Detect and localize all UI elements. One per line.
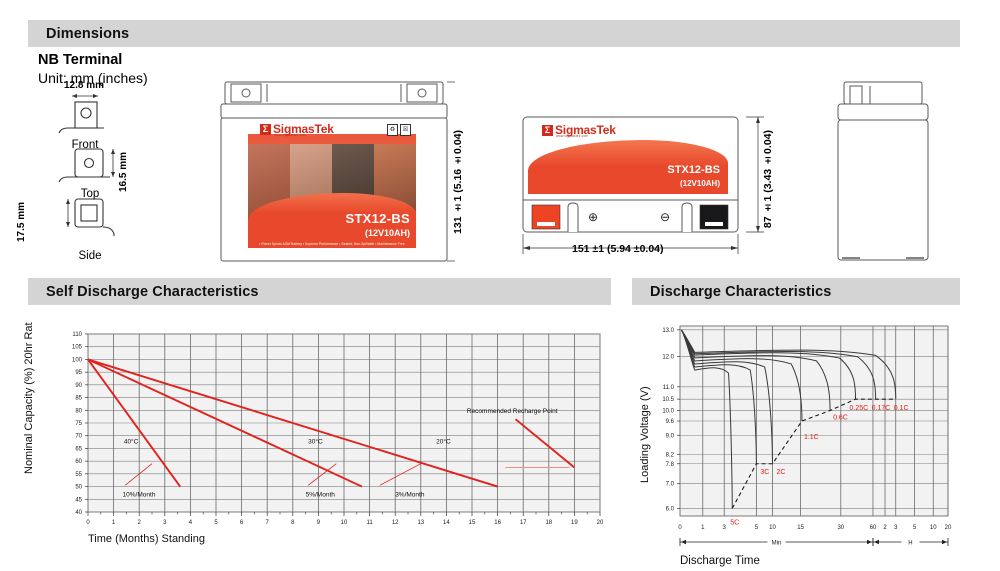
- battery-width-dimension: 87 ±1 (3.43 ±0.04): [762, 130, 774, 228]
- sdc-ytick: 45: [75, 497, 82, 503]
- dc-xtick: 5: [755, 525, 759, 531]
- dc-ytick: 9.6: [666, 419, 675, 425]
- dc-ytick: 11.0: [663, 385, 675, 391]
- sdc-xtick: 0: [86, 520, 90, 526]
- sdc-xtick: 15: [469, 520, 476, 526]
- dc-xtick: 20: [945, 525, 952, 531]
- sdc-ylabel: Nominal Capacity (%) 20hr Rate: [23, 322, 35, 474]
- label-voltage: (12V10AH): [365, 228, 410, 238]
- dc-ytick: 10.0: [662, 409, 674, 415]
- sdc-xtick: 12: [392, 520, 399, 526]
- sdc-xtick: 20: [597, 520, 604, 526]
- sdc-xtick: 10: [341, 520, 348, 526]
- terminal-width-dim: 12.8 mm: [64, 80, 104, 91]
- dc-curve-label-0.6C: 0.6C: [833, 415, 848, 422]
- sdc-ytick: 75: [75, 421, 82, 427]
- dc-axis-group-Min: Min: [772, 541, 782, 547]
- section-title-dimensions: Dimensions: [28, 26, 129, 42]
- sdc-xtick: 8: [291, 520, 295, 526]
- recycle-icon: ♻: [387, 124, 398, 136]
- battery-length-dimension: 151 ±1 (5.94 ±0.04): [572, 243, 664, 255]
- sdc-ytick: 100: [72, 357, 83, 363]
- discharge-chart: 6.07.07.88.29.09.610.010.511.012.013.0 0…: [632, 318, 972, 568]
- dc-curve-label-0.17C: 0.17C: [872, 405, 891, 412]
- brand-website-top: www.sigmastek.com: [556, 134, 588, 138]
- dc-xtick: 15: [797, 525, 804, 531]
- terminal-top-view: [59, 149, 115, 182]
- sdc-ytick: 40: [75, 510, 82, 516]
- dc-ytick: 6.0: [666, 506, 675, 512]
- sdc-xtick: 7: [266, 520, 270, 526]
- sdc-xtick: 9: [317, 520, 321, 526]
- dc-axis-group-H: H: [908, 541, 912, 547]
- section-title-discharge: Discharge Characteristics: [632, 284, 831, 300]
- dc-ytick: 10.5: [662, 397, 674, 403]
- sdc-ytick: 95: [75, 370, 82, 376]
- sdc-annotation: 20°C: [436, 437, 451, 445]
- terminal-depth-dim: 16.5 mm: [118, 152, 129, 192]
- sdc-annotation: 3%/Month: [395, 492, 425, 499]
- sdc-xtick: 6: [240, 520, 244, 526]
- dc-curve-label-5C: 5C: [730, 519, 739, 526]
- terminal-side-view: [66, 199, 114, 236]
- section-header-self-discharge: Self Discharge Characteristics: [28, 278, 611, 305]
- sdc-ytick: 90: [75, 383, 82, 389]
- no-trash-icon: ☒: [400, 124, 411, 136]
- dc-ytick: 7.8: [666, 462, 675, 468]
- terminal-front-caption: Front: [55, 139, 115, 151]
- terminal-front-view: [59, 94, 104, 133]
- sdc-xtick: 13: [417, 520, 424, 526]
- sdc-annotation: 5%/Month: [306, 492, 336, 499]
- brand-website: www.sigmastek.com: [274, 133, 306, 137]
- dc-xtick: 2: [883, 525, 887, 531]
- sdc-annotation: Recommended Recharge Point: [467, 408, 558, 415]
- dc-xtick: 10: [930, 525, 937, 531]
- dc-xtick: 60: [870, 525, 877, 531]
- dc-xtick: 3: [894, 525, 898, 531]
- top-label-voltage: (12V10AH): [680, 179, 720, 188]
- sdc-xlabel: Time (Months) Standing: [88, 533, 205, 545]
- sdc-annotation: 40°C: [124, 437, 139, 445]
- sdc-annotation: 30°C: [308, 437, 323, 445]
- sdc-xtick: 19: [571, 520, 578, 526]
- dc-ytick: 8.2: [666, 452, 675, 458]
- sdc-xtick: 17: [520, 520, 527, 526]
- dc-curve-label-1.1C: 1.1C: [804, 434, 819, 441]
- battery-height-dimension: 131 ±1 (5.16 ±0.04): [452, 130, 464, 234]
- sdc-ytick: 105: [72, 345, 83, 351]
- top-label-model: STX12-BS: [667, 164, 720, 176]
- dc-xtick: 0: [678, 525, 682, 531]
- sdc-annotation: 10%/Month: [123, 492, 156, 499]
- sdc-xtick: 2: [138, 520, 142, 526]
- dc-ytick: 7.0: [666, 482, 675, 488]
- label-icons: ♻ ☒: [387, 124, 411, 136]
- dc-xtick: 10: [769, 525, 776, 531]
- negative-symbol: ⊖: [660, 210, 670, 224]
- positive-symbol: ⊕: [588, 210, 598, 224]
- dc-curve-label-0.25C: 0.25C: [850, 405, 869, 412]
- battery-label-top: Σ SigmasTek www.sigmastek.com STX12-BS (…: [528, 122, 728, 194]
- label-model: STX12-BS: [345, 211, 410, 226]
- sdc-xtick: 16: [494, 520, 501, 526]
- dc-xtick: 30: [837, 525, 844, 531]
- dc-curve-label-0.1C: 0.1C: [894, 405, 909, 412]
- sdc-xtick: 18: [545, 520, 552, 526]
- terminal-drawings: [34, 86, 184, 271]
- sdc-xtick: 14: [443, 520, 450, 526]
- nb-terminal-title: NB Terminal: [38, 52, 122, 68]
- sdc-ytick: 55: [75, 472, 82, 478]
- sdc-xtick: 11: [366, 520, 373, 526]
- dc-curve-label-3C: 3C: [760, 469, 769, 476]
- section-header-discharge: Discharge Characteristics: [632, 278, 960, 305]
- dc-ylabel: Loading Voltage (V): [639, 386, 651, 483]
- sdc-ytick: 80: [75, 408, 82, 414]
- sdc-ytick: 60: [75, 459, 82, 465]
- dc-curve-label-2C: 2C: [776, 469, 785, 476]
- battery-side-drawing: [820, 68, 950, 268]
- dc-ytick: 9.0: [666, 433, 675, 439]
- battery-label-front: Σ SigmasTek www.sigmastek.com ♻ ☒ STX12-…: [248, 120, 416, 248]
- sdc-xtick: 5: [214, 520, 218, 526]
- sigma-icon: Σ: [542, 125, 553, 136]
- sdc-ytick: 110: [72, 332, 82, 338]
- dc-xlabel: Discharge Time: [680, 555, 760, 567]
- terminal-height-dim: 17.5 mm: [16, 202, 27, 242]
- sdc-xtick: 1: [112, 520, 116, 526]
- dc-xtick: 3: [723, 525, 727, 531]
- sdc-ytick: 50: [75, 485, 82, 491]
- dc-xtick: 5: [913, 525, 917, 531]
- section-title-self-discharge: Self Discharge Characteristics: [28, 284, 259, 300]
- dc-ytick: 12.0: [662, 354, 674, 360]
- dc-ytick: 13.0: [662, 328, 674, 334]
- sdc-ytick: 70: [75, 434, 82, 440]
- section-header-dimensions: Dimensions: [28, 20, 960, 47]
- self-discharge-chart: 404550556065707580859095100105110 012345…: [20, 322, 620, 547]
- sdc-ytick: 85: [75, 396, 82, 402]
- sdc-xtick: 4: [189, 520, 193, 526]
- sigma-icon: Σ: [260, 124, 271, 135]
- sdc-ytick: 65: [75, 446, 82, 452]
- label-features: • Power Sports AGM Battery • Superior Pe…: [248, 239, 416, 248]
- terminal-top-caption: Top: [60, 188, 120, 200]
- dc-xtick: 1: [701, 525, 705, 531]
- terminal-side-caption: Side: [60, 250, 120, 262]
- sdc-xtick: 3: [163, 520, 167, 526]
